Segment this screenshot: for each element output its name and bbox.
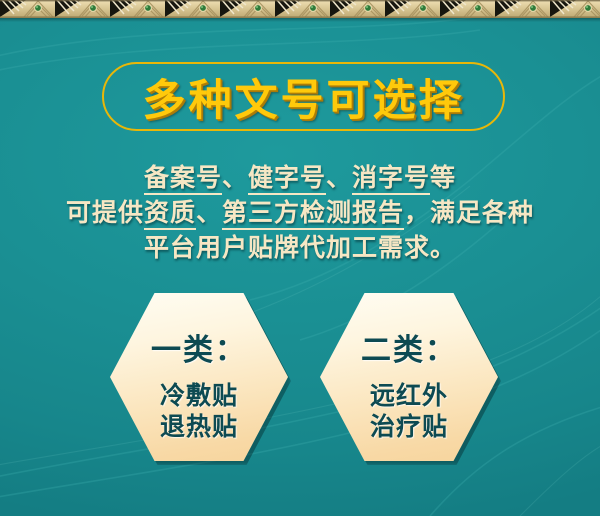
description-line: 平台用户贴牌代加工需求。 xyxy=(0,230,600,265)
description-text: ，满足各种 xyxy=(404,198,534,227)
category-two-title: 二类： xyxy=(361,325,457,369)
category-two-item-2: 治疗贴 xyxy=(370,411,448,442)
category-one-item-2: 退热贴 xyxy=(160,411,238,442)
description-line: 备案号、健字号、消字号等 xyxy=(0,160,600,195)
description-line: 可提供资质、第三方检测报告，满足各种 xyxy=(0,195,600,230)
highlighted-term: 备案号 xyxy=(144,163,222,195)
category-one-item-1: 冷敷贴 xyxy=(160,380,238,411)
description-text: 、 xyxy=(326,163,352,192)
highlighted-term: 健字号 xyxy=(248,163,326,195)
highlighted-term: 资质 xyxy=(144,198,196,230)
category-one-title: 一类： xyxy=(151,325,247,369)
category-two-items: 远红外 治疗贴 xyxy=(370,380,448,442)
description-text: 平台用户贴牌代加工需求。 xyxy=(144,233,456,262)
category-one-items: 冷敷贴 退热贴 xyxy=(160,380,238,442)
description-paragraph: 备案号、健字号、消字号等可提供资质、第三方检测报告，满足各种平台用户贴牌代加工需… xyxy=(0,160,600,265)
page-title: 多种文号可选择 xyxy=(102,62,505,131)
category-two-item-1: 远红外 xyxy=(370,380,448,411)
description-text: 等 xyxy=(430,163,456,192)
highlighted-term: 第三方检测报告 xyxy=(222,198,404,230)
description-text: 、 xyxy=(222,163,248,192)
description-text: 、 xyxy=(196,198,222,227)
description-text: 可提供 xyxy=(66,198,144,227)
poster-root: 多种文号可选择 备案号、健字号、消字号等可提供资质、第三方检测报告，满足各种平台… xyxy=(0,0,600,516)
highlighted-term: 消字号 xyxy=(352,163,430,195)
ornamental-border-top xyxy=(0,0,600,18)
